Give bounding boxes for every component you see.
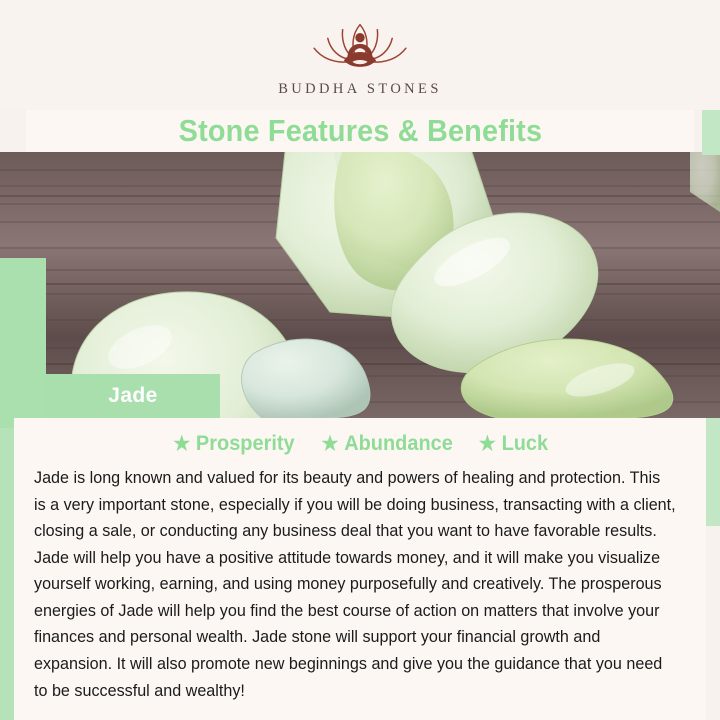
decoration-bottom-left (0, 680, 14, 720)
decoration-left-block (0, 258, 46, 428)
stone-description: Jade is long known and valued for its be… (34, 465, 676, 704)
star-icon: ★ (478, 434, 495, 454)
stone-name: Jade (108, 384, 157, 408)
page-title: Stone Features & Benefits (178, 113, 542, 149)
brand-name: BUDDHA STONES (278, 81, 442, 98)
stone-photo: Jade (0, 152, 720, 418)
stone-name-banner: Jade (46, 374, 220, 418)
star-icon: ★ (322, 434, 339, 454)
benefits-row: ★ Prosperity ★ Abundance ★ Luck (34, 432, 686, 456)
brand-header: BUDDHA STONES (0, 0, 720, 110)
benefit-abundance: ★ Abundance (322, 432, 453, 456)
title-banner: Stone Features & Benefits (26, 110, 694, 152)
benefit-label: Abundance (344, 432, 453, 456)
benefit-label: Luck (501, 432, 548, 456)
benefit-label: Prosperity (196, 432, 295, 456)
content-panel: ★ Prosperity ★ Abundance ★ Luck Jade is … (14, 418, 706, 720)
benefit-luck: ★ Luck (478, 432, 547, 456)
star-icon: ★ (174, 434, 191, 454)
benefit-prosperity: ★ Prosperity (174, 432, 295, 456)
lotus-meditation-icon (298, 16, 422, 78)
